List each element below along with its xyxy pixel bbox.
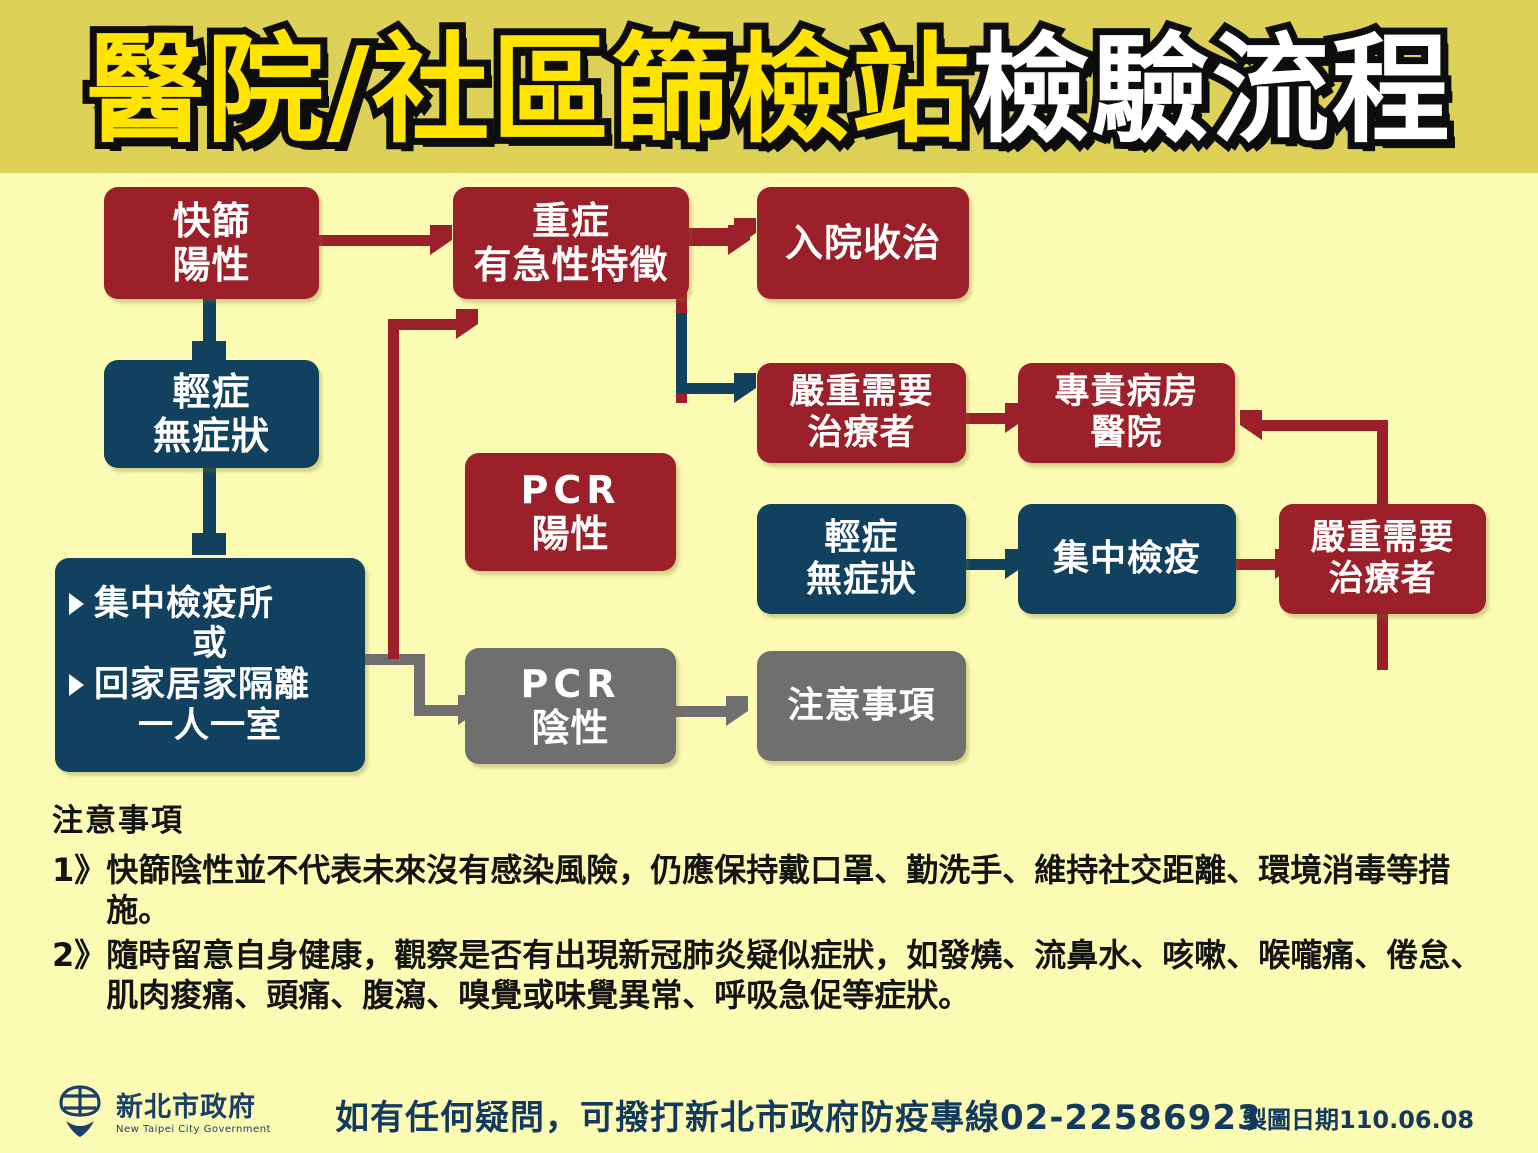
node-quarantine-line2: 或 xyxy=(55,624,365,665)
page-title-part-2: 檢驗流程 xyxy=(972,15,1452,165)
city-government-logo: 新北市政府 New Taipei City Government xyxy=(52,1081,271,1139)
triangle-bullet-icon-2 xyxy=(69,674,84,696)
node-pcr-negative[interactable]: PCR 陰性 xyxy=(465,648,676,764)
node-quarantine-bullet-1: 集中檢疫所 xyxy=(55,584,365,625)
note-item-2-text: 隨時留意自身健康，觀察是否有出現新冠肺炎疑似症狀，如發燒、流鼻水、咳嗽、喉嚨痛、… xyxy=(106,935,1512,1016)
node-severe-need-care-2-line2: 治療者 xyxy=(1328,559,1436,600)
connector-to-pcr-positive xyxy=(388,319,460,330)
page-title: 醫院/社區篩檢站檢驗流程 xyxy=(0,10,1538,170)
node-severe-acute-line1: 重症 xyxy=(532,199,610,243)
connector-quarantine-up-red xyxy=(388,319,399,659)
node-severe-need-care-1[interactable]: 嚴重需要 治療者 xyxy=(757,363,966,463)
note-item-1-number: 1》 xyxy=(52,850,106,890)
triangle-bullet-icon xyxy=(69,593,84,615)
node-pcr-negative-line1: PCR xyxy=(521,662,621,706)
node-pcr-negative-line2: 陰性 xyxy=(531,706,609,750)
connector-rapid-to-mild xyxy=(203,299,216,347)
node-precautions[interactable]: 注意事項 xyxy=(757,651,966,761)
arrowhead-pcr-neg-to-precautions xyxy=(726,696,748,726)
node-mild-asymptomatic-2-line1: 輕症 xyxy=(824,517,898,559)
arrowhead-pcr-pos-to-severe xyxy=(734,218,756,248)
node-severe-need-care-2-line1: 嚴重需要 xyxy=(1310,518,1454,559)
node-dedicated-ward-line1: 專責病房 xyxy=(1054,372,1198,413)
logo-text-cn: 新北市政府 xyxy=(116,1085,271,1124)
node-dedicated-ward-line2: 醫院 xyxy=(1090,413,1162,454)
node-quarantine-or-home[interactable]: 集中檢疫所 或 回家居家隔離 一人一室 xyxy=(55,558,365,772)
logo-text: 新北市政府 New Taipei City Government xyxy=(116,1085,271,1135)
node-quarantine-line4: 一人一室 xyxy=(55,706,365,747)
node-mild-asymptomatic-1-line1: 輕症 xyxy=(172,370,250,414)
note-item-2: 2》 隨時留意自身健康，觀察是否有出現新冠肺炎疑似症狀，如發燒、流鼻水、咳嗽、喉… xyxy=(52,935,1512,1016)
connector-severe2-back-to-ward xyxy=(1262,420,1388,431)
node-mild-asymptomatic-2[interactable]: 輕症 無症狀 xyxy=(757,504,966,614)
notes-section: 注意事項 1》 快篩陰性並不代表未來沒有感染風險，仍應保持戴口罩、勤洗手、維持社… xyxy=(52,795,1512,1019)
footer: 新北市政府 New Taipei City Government 如有任何疑問，… xyxy=(0,1078,1538,1153)
node-severe-need-care-2[interactable]: 嚴重需要 治療者 xyxy=(1279,504,1486,614)
new-taipei-leaf-logo-icon xyxy=(52,1081,108,1139)
hotline-text: 如有任何疑問，可撥打新北市政府防疫專線02-22586923 xyxy=(335,1090,1262,1139)
node-hospital-admission[interactable]: 入院收治 xyxy=(757,187,969,299)
arrowhead-severe2-back-to-ward xyxy=(1240,410,1262,440)
arrowhead-rapid-to-severe xyxy=(430,225,452,255)
node-severe-acute-line2: 有急性特徵 xyxy=(473,243,668,287)
node-quarantine-line3: 回家居家隔離 xyxy=(94,665,310,706)
connector-central-to-severe2 xyxy=(1235,559,1279,570)
node-central-quarantine-line1: 集中檢疫 xyxy=(1053,538,1201,580)
node-severe-need-care-1-line1: 嚴重需要 xyxy=(789,372,933,413)
connector-mild-to-quarantine xyxy=(203,468,216,538)
made-date-text: 製圖日期110.06.08 xyxy=(1243,1100,1474,1135)
node-hospital-admission-line1: 入院收治 xyxy=(785,221,941,265)
connector-rapid-to-severe xyxy=(318,235,432,246)
connector-to-pcr-negative xyxy=(414,705,462,716)
connector-pcr-pos-down-navy xyxy=(676,313,687,393)
node-mild-asymptomatic-2-line2: 無症狀 xyxy=(806,559,917,601)
node-severe-acute[interactable]: 重症 有急性特徵 xyxy=(453,187,689,299)
node-quarantine-line2-wrap: 或 xyxy=(55,624,365,665)
connector-mild2-to-central xyxy=(965,559,1007,570)
notes-title: 注意事項 xyxy=(52,795,1512,840)
node-rapid-positive-line2: 陽性 xyxy=(172,243,250,287)
connector-pcr-neg-to-precautions xyxy=(676,706,728,717)
arrowhead-pcr-pos-to-mild2 xyxy=(734,373,756,403)
node-dedicated-ward[interactable]: 專責病房 醫院 xyxy=(1018,363,1235,463)
node-pcr-positive-line1: PCR xyxy=(521,468,621,512)
flowchart: 快篩 陽性 重症 有急性特徵 入院收治 輕症 無症狀 集中檢疫所 或 回家居家隔… xyxy=(0,173,1538,788)
connector-severe1-to-ward xyxy=(965,413,1007,424)
node-mild-asymptomatic-1[interactable]: 輕症 無症狀 xyxy=(104,360,319,468)
note-item-1-text: 快篩陰性並不代表未來沒有感染風險，仍應保持戴口罩、勤洗手、維持社交距離、環境消毒… xyxy=(106,850,1512,931)
node-rapid-positive[interactable]: 快篩 陽性 xyxy=(104,187,319,299)
node-pcr-positive-line2: 陽性 xyxy=(531,512,609,556)
node-quarantine-line4-wrap: 一人一室 xyxy=(55,706,365,747)
note-item-2-number: 2》 xyxy=(52,935,106,975)
arrowhead-to-pcr-positive xyxy=(456,309,478,339)
node-pcr-positive[interactable]: PCR 陽性 xyxy=(465,453,676,571)
connector-pcr-pos-to-mild2 xyxy=(676,383,738,394)
node-quarantine-bullet-2: 回家居家隔離 xyxy=(55,665,365,706)
node-central-quarantine[interactable]: 集中檢疫 xyxy=(1018,504,1236,614)
page-title-part-1: 醫院/社區篩檢站 xyxy=(86,15,971,165)
node-precautions-line1: 注意事項 xyxy=(787,685,935,727)
arrowhead-mild-to-quarantine xyxy=(192,533,226,555)
node-mild-asymptomatic-1-line2: 無症狀 xyxy=(153,414,270,458)
note-item-1: 1》 快篩陰性並不代表未來沒有感染風險，仍應保持戴口罩、勤洗手、維持社交距離、環… xyxy=(52,850,1512,931)
node-rapid-positive-line1: 快篩 xyxy=(172,199,250,243)
node-severe-need-care-1-line2: 治療者 xyxy=(807,413,915,454)
node-quarantine-line1: 集中檢疫所 xyxy=(94,584,274,625)
logo-text-en: New Taipei City Government xyxy=(116,1124,271,1135)
